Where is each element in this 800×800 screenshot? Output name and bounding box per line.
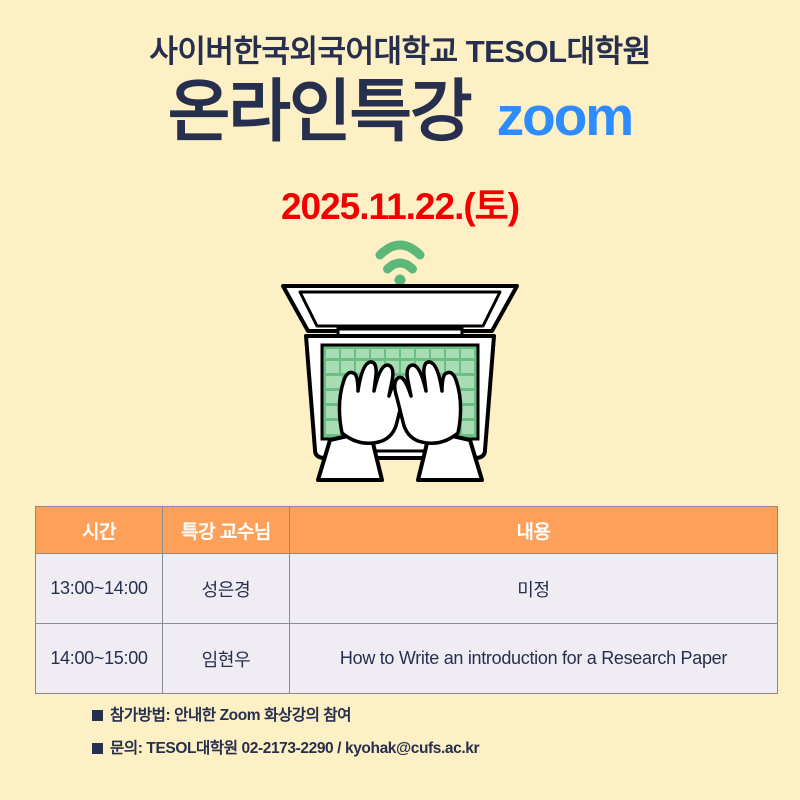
schedule-table: 시간 특강 교수님 내용 13:00~14:00 성은경 미정 14:00~15… (35, 506, 778, 694)
footer-text-contact: 문의: TESOL대학원 02-2173-2290 / kyohak@cufs.… (110, 741, 479, 757)
column-header-time: 시간 (36, 507, 163, 554)
table-row: 13:00~14:00 성은경 미정 (36, 554, 778, 624)
square-bullet-icon (92, 710, 103, 721)
square-bullet-icon (92, 743, 103, 754)
title-row: 온라인특강 zoom (0, 78, 800, 146)
poster-subtitle: 사이버한국외국어대학교 TESOL대학원 (0, 26, 800, 71)
poster-root: 사이버한국외국어대학교 TESOL대학원 온라인특강 zoom 2025.11.… (0, 0, 800, 800)
zoom-logo: zoom (497, 89, 633, 144)
cell-time: 13:00~14:00 (36, 554, 163, 624)
cell-time: 14:00~15:00 (36, 624, 163, 694)
footer-notes: 참가방법: 안내한 Zoom 화상강의 참여 문의: TESOL대학원 02-2… (92, 708, 752, 773)
column-header-professor: 특강 교수님 (163, 507, 290, 554)
table-row: 14:00~15:00 임현우 How to Write an introduc… (36, 624, 778, 694)
cell-content: How to Write an introduction for a Resea… (290, 624, 778, 694)
footer-text-participation: 참가방법: 안내한 Zoom 화상강의 참여 (110, 708, 351, 724)
event-date: 2025.11.22.(토) (0, 176, 800, 230)
table-header-row: 시간 특강 교수님 내용 (36, 507, 778, 554)
column-header-content: 내용 (290, 507, 778, 554)
footer-line-participation: 참가방법: 안내한 Zoom 화상강의 참여 (92, 708, 752, 724)
footer-line-contact: 문의: TESOL대학원 02-2173-2290 / kyohak@cufs.… (92, 741, 752, 757)
cell-professor: 임현우 (163, 624, 290, 694)
cell-content: 미정 (290, 554, 778, 624)
wifi-icon (380, 245, 420, 269)
page-title: 온라인특강 (168, 78, 471, 146)
laptop-typing-illustration (270, 228, 530, 490)
cell-professor: 성은경 (163, 554, 290, 624)
